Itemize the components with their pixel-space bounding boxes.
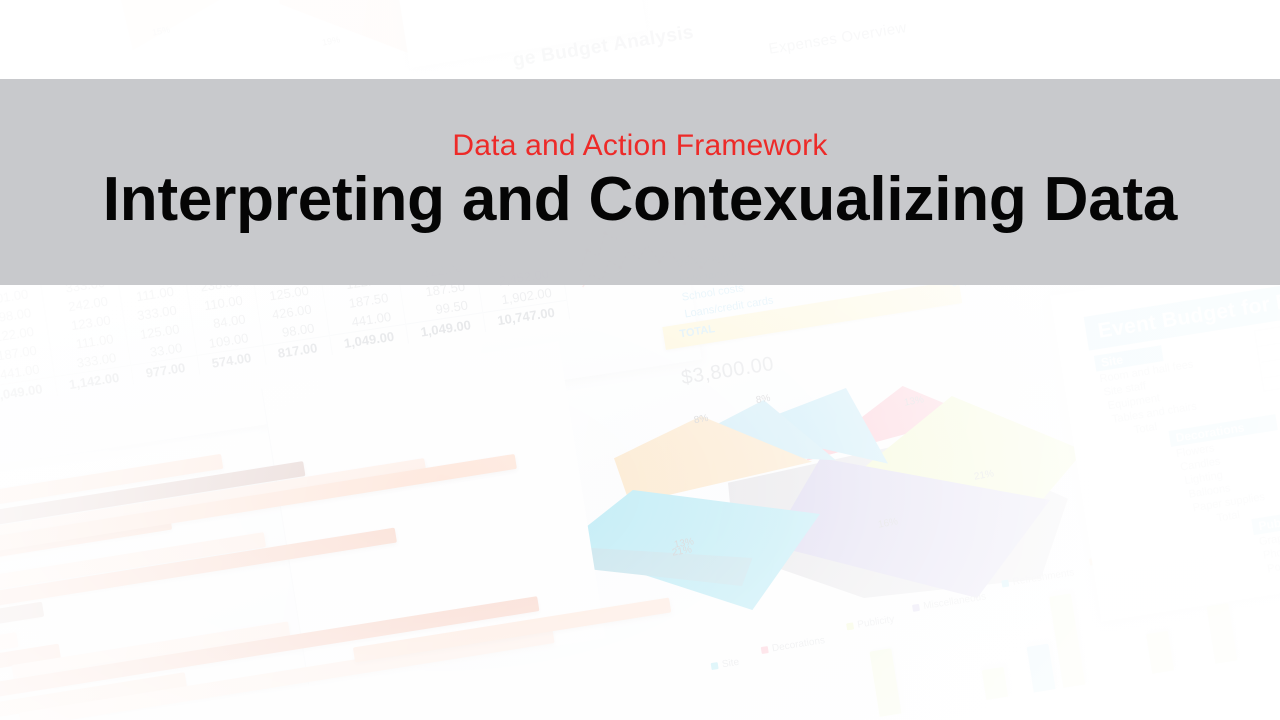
- top-left-pie-chart: 15% 19%: [60, 0, 420, 80]
- event-budget-group-decorations: Decorations: [1169, 414, 1278, 447]
- title-banner: Data and Action Framework Interpreting a…: [0, 79, 1280, 285]
- event-budget-item: Pos: [1266, 560, 1280, 575]
- page-title: Interpreting and Contexualizing Data: [103, 167, 1177, 232]
- bar: [0, 602, 44, 636]
- pie-percent-label: 15%: [151, 24, 171, 37]
- slide-root: 15% 19% ge Budget Analysis Expenses Over…: [0, 0, 1280, 720]
- event-budget-item: Photo: [1262, 545, 1280, 561]
- pie-slice: [96, 0, 264, 50]
- column-bar: [1206, 603, 1237, 664]
- pie-percent-label: 19%: [321, 34, 341, 47]
- legend-label-decorations: Decorations: [771, 635, 825, 654]
- pie-percent-refreshments: 8%: [755, 393, 771, 406]
- slide-subtitle: Data and Action Framework: [452, 131, 827, 161]
- caption-expenses-overview: Expenses Overview: [768, 19, 908, 58]
- column-bar: [1146, 631, 1174, 674]
- event-budget-group-publicity: Publicity: [1251, 505, 1280, 535]
- column-bar: [869, 648, 901, 717]
- legend-label-site: Site: [721, 657, 740, 671]
- event-budget-item-total: Total: [1133, 421, 1158, 436]
- event-budget-item-total: Total: [1216, 509, 1241, 524]
- column-bar: [1049, 593, 1085, 687]
- legend-label-refreshments: Refreshments: [1012, 567, 1075, 588]
- column-bar: [982, 667, 1008, 700]
- value-box: [1254, 314, 1280, 392]
- column-bar: [1027, 644, 1056, 693]
